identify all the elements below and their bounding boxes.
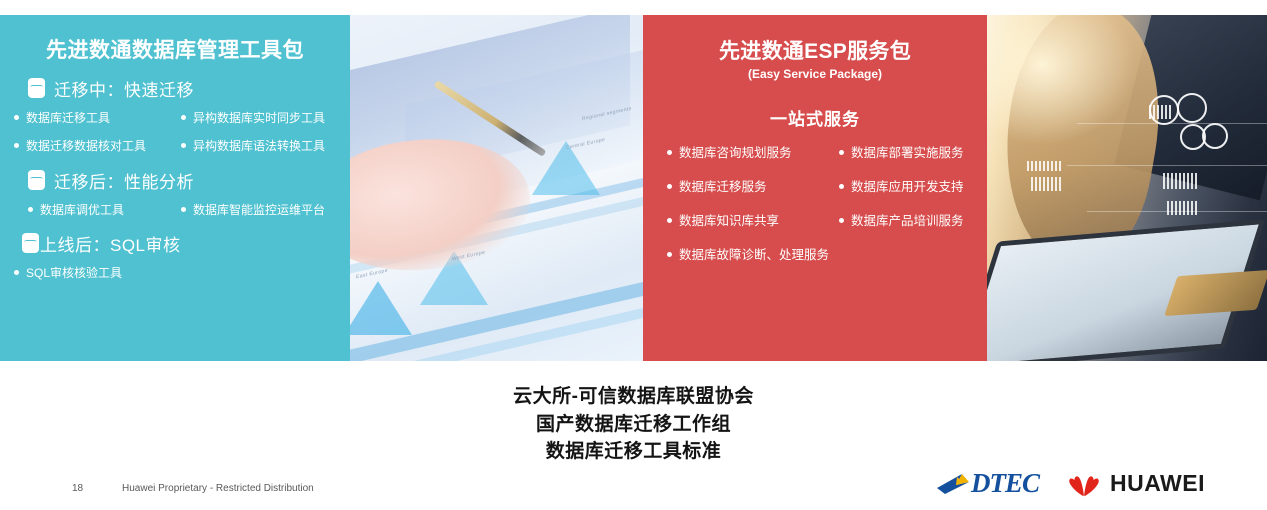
list-item-label: 数据库调优工具 <box>40 203 124 217</box>
bullet-dot-icon <box>14 143 19 148</box>
photo-area-chart <box>350 281 412 335</box>
confidentiality-notice: Huawei Proprietary - Restricted Distribu… <box>122 483 314 494</box>
list-item-label: 数据库应用开发支持 <box>851 180 964 195</box>
dtec-logo: DTEC <box>936 470 1039 497</box>
list-item-label: 数据库智能监控运维平台 <box>193 203 325 217</box>
list-item-label: 数据库咨询规划服务 <box>679 146 792 161</box>
database-icon <box>22 233 39 254</box>
hand-touching-tablet-photo <box>987 15 1267 361</box>
list-item: 异构数据库语法转换工具 <box>181 139 359 153</box>
list-item-label: 数据迁移数据核对工具 <box>26 139 146 153</box>
list-item-label: 数据库产品培训服务 <box>851 214 964 229</box>
logo-group: DTEC HUAWEI <box>936 470 1205 497</box>
esp-service-package-panel: 先进数通ESP服务包 (Easy Service Package) 一站式服务 … <box>643 15 987 361</box>
bullet-dot-icon <box>839 184 844 189</box>
bullet-dot-icon <box>14 115 19 120</box>
list-item: 数据库应用开发支持 <box>839 180 989 195</box>
list-item: 数据迁移数据核对工具 <box>14 139 181 153</box>
list-item: 数据库迁移工具 <box>14 111 181 125</box>
photo-hud-bars <box>1163 173 1199 189</box>
database-toolkit-panel: 先进数通数据库管理工具包 迁移中：快速迁移 数据库迁移工具 异构数据库实时同步工… <box>0 15 350 361</box>
list-item: 数据库知识库共享 <box>667 214 839 229</box>
photo-hud-bars <box>1167 201 1197 215</box>
dtec-wordmark: DTEC <box>971 470 1039 497</box>
section-heading-label: 迁移后：性能分析 <box>54 168 194 193</box>
list-item: 数据库部署实施服务 <box>839 146 989 161</box>
list-item-label: 数据库部署实施服务 <box>851 146 964 161</box>
photo-hud-line <box>1067 165 1267 166</box>
footer-heading: 云大所-可信数据库联盟协会 国产数据库迁移工作组 数据库迁移工具标准 <box>0 383 1267 466</box>
teal-panel-title: 先进数通数据库管理工具包 <box>14 39 336 62</box>
list-item: 数据库产品培训服务 <box>839 214 989 229</box>
list-item: 数据库调优工具 <box>28 203 181 217</box>
photo-light-flare <box>987 15 1137 145</box>
bullet-dot-icon <box>667 218 672 223</box>
list-item: 异构数据库实时同步工具 <box>181 111 359 125</box>
photo-hud-line <box>1077 123 1267 124</box>
section-heading-performance: 迁移后：性能分析 <box>28 168 336 193</box>
footer-heading-line-1: 云大所-可信数据库联盟协会 <box>0 383 1267 411</box>
list-item: 数据库智能监控运维平台 <box>181 203 359 217</box>
red-panel-tagline: 一站式服务 <box>659 105 971 130</box>
dtec-arrow-icon <box>936 473 970 495</box>
section-heading-sql-audit: 上线后：SQL审核 <box>22 231 336 256</box>
bullet-dot-icon <box>181 115 186 120</box>
list-item-label: 数据库故障诊断、处理服务 <box>679 248 829 263</box>
footer-heading-line-2: 国产数据库迁移工作组 <box>0 411 1267 439</box>
database-icon <box>28 170 45 191</box>
bullet-dot-icon <box>839 218 844 223</box>
red-panel-title: 先进数通ESP服务包 <box>659 40 971 64</box>
list-item: 数据库迁移服务 <box>667 180 839 195</box>
bullet-dot-icon <box>667 150 672 155</box>
red-panel-subtitle: (Easy Service Package) <box>659 67 971 81</box>
bullet-group-migration: 数据库迁移工具 异构数据库实时同步工具 数据迁移数据核对工具 异构数据库语法转换… <box>14 111 336 154</box>
photo-credit-card <box>1164 270 1267 316</box>
bullet-dot-icon <box>181 207 186 212</box>
list-item-label: 异构数据库语法转换工具 <box>193 139 325 153</box>
bullet-dot-icon <box>667 184 672 189</box>
bullet-dot-icon <box>667 252 672 257</box>
bullet-dot-icon <box>14 270 19 275</box>
list-item: SQL审核核验工具 <box>14 266 336 280</box>
bullet-group-services: 数据库咨询规划服务 数据库部署实施服务 数据库迁移服务 数据库应用开发支持 数据… <box>659 146 971 263</box>
huawei-logo: HUAWEI <box>1067 471 1205 497</box>
bullet-dot-icon <box>839 150 844 155</box>
banner-strip: 先进数通数据库管理工具包 迁移中：快速迁移 数据库迁移工具 异构数据库实时同步工… <box>0 15 1267 361</box>
list-item-label: 数据库迁移服务 <box>679 180 767 195</box>
footer-heading-line-3: 数据库迁移工具标准 <box>0 438 1267 466</box>
list-item-label: 异构数据库实时同步工具 <box>193 111 325 125</box>
bullet-dot-icon <box>28 207 33 212</box>
photo-hud-ring <box>1177 93 1207 123</box>
section-heading-migration: 迁移中：快速迁移 <box>28 76 336 101</box>
photo-hud-bars <box>1031 177 1061 191</box>
photo-hud-ring <box>1149 95 1179 125</box>
section-heading-label: 上线后：SQL审核 <box>40 231 181 256</box>
photo-hud-bars <box>1027 161 1061 171</box>
bullet-dot-icon <box>181 143 186 148</box>
list-item: 数据库咨询规划服务 <box>667 146 839 161</box>
list-item-label: SQL审核核验工具 <box>26 266 122 280</box>
database-icon <box>28 78 45 99</box>
huawei-flower-icon <box>1067 471 1101 497</box>
page-number: 18 <box>72 483 83 494</box>
bullet-group-performance: 数据库调优工具 数据库智能监控运维平台 <box>14 203 336 217</box>
list-item-label: 数据库知识库共享 <box>679 214 779 229</box>
list-item-label: 数据库迁移工具 <box>26 111 110 125</box>
list-item: 数据库故障诊断、处理服务 <box>667 248 839 263</box>
bullet-group-sql-audit: SQL审核核验工具 <box>14 266 336 280</box>
hand-writing-over-charts-photo: Regional segments Central Europe West Eu… <box>350 15 643 361</box>
section-heading-label: 迁移中：快速迁移 <box>54 76 194 101</box>
photo-hud-ring <box>1202 123 1228 149</box>
huawei-wordmark: HUAWEI <box>1110 472 1205 495</box>
